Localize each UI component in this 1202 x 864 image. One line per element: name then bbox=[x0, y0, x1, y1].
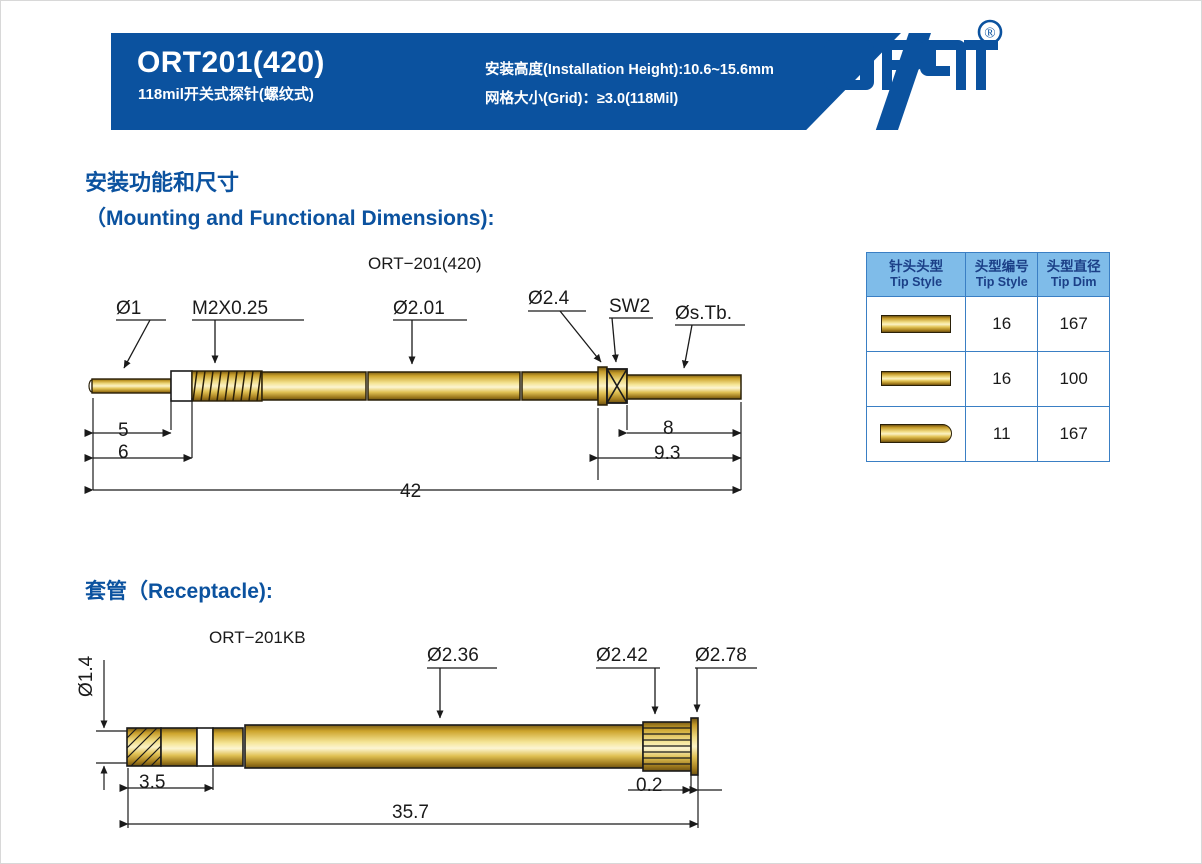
datasheet-page: ORT201(420) 118mil开关式探针(螺纹式) 安装高度(Instal… bbox=[0, 0, 1202, 864]
receptacle-geometry bbox=[0, 0, 1202, 864]
receptacle-drawing: ORT−201KB Ø1.4 Ø2.36 Ø2.42 Ø2.78 3.5 0.2… bbox=[0, 0, 1202, 864]
